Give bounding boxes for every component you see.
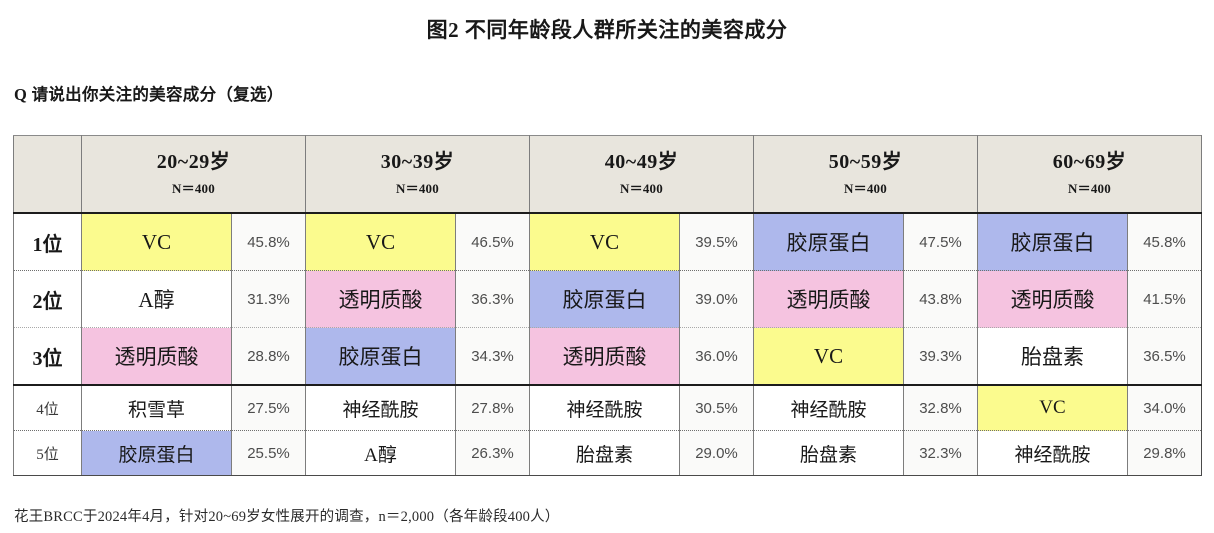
ingredient-name-cell: 胶原蛋白: [530, 271, 680, 328]
ingredient-name-cell: VC: [306, 213, 456, 271]
ingredient-percent-cell: 27.5%: [232, 385, 306, 431]
table-row: 2位A醇31.3%透明质酸36.3%胶原蛋白39.0%透明质酸43.8%透明质酸…: [14, 271, 1202, 328]
ingredient-percent-cell: 29.8%: [1128, 431, 1202, 476]
ingredient-name-cell: A醇: [306, 431, 456, 476]
ingredient-percent-cell: 27.8%: [456, 385, 530, 431]
age-group-header-4: 50~59岁N＝400: [754, 136, 978, 214]
ingredient-name-cell: VC: [754, 328, 904, 386]
ingredient-name-cell: VC: [530, 213, 680, 271]
table-row: 3位透明质酸28.8%胶原蛋白34.3%透明质酸36.0%VC39.3%胎盘素3…: [14, 328, 1202, 386]
ingredient-percent-cell: 45.8%: [232, 213, 306, 271]
age-group-header-2: 30~39岁N＝400: [306, 136, 530, 214]
age-group-sample-size: N＝400: [530, 178, 753, 197]
rank-column-header: [14, 136, 82, 214]
age-group-label: 40~49岁: [530, 151, 753, 174]
ingredient-name-cell: 神经酰胺: [754, 385, 904, 431]
page-title: 图2 不同年龄段人群所关注的美容成分: [0, 14, 1214, 44]
ingredient-name-cell: 透明质酸: [754, 271, 904, 328]
ingredient-percent-cell: 29.0%: [680, 431, 754, 476]
ingredient-name-cell: 胎盘素: [530, 431, 680, 476]
ingredient-name-cell: 透明质酸: [306, 271, 456, 328]
rank-label: 1位: [14, 213, 82, 271]
ingredient-percent-cell: 39.3%: [904, 328, 978, 386]
question-text: 请说出你关注的美容成分（复选）: [32, 85, 284, 104]
source-footnote: 花王BRCC于2024年4月，针对20~69岁女性展开的调查，n＝2,000（各…: [14, 505, 560, 526]
age-group-header-5: 60~69岁N＝400: [978, 136, 1202, 214]
ingredient-name-cell: 透明质酸: [82, 328, 232, 386]
ingredient-percent-cell: 34.3%: [456, 328, 530, 386]
rank-label: 2位: [14, 271, 82, 328]
age-group-sample-size: N＝400: [978, 178, 1201, 197]
ingredient-percent-cell: 25.5%: [232, 431, 306, 476]
ingredient-name-cell: 胎盘素: [978, 328, 1128, 386]
ingredient-name-cell: 胎盘素: [754, 431, 904, 476]
table-row: 5位胶原蛋白25.5%A醇26.3%胎盘素29.0%胎盘素32.3%神经酰胺29…: [14, 431, 1202, 476]
ingredient-percent-cell: 36.0%: [680, 328, 754, 386]
rank-label: 4位: [14, 385, 82, 431]
age-group-label: 60~69岁: [978, 151, 1201, 174]
table-row: 1位VC45.8%VC46.5%VC39.5%胶原蛋白47.5%胶原蛋白45.8…: [14, 213, 1202, 271]
ingredient-percent-cell: 28.8%: [232, 328, 306, 386]
age-group-label: 30~39岁: [306, 151, 529, 174]
ingredient-name-cell: VC: [82, 213, 232, 271]
table-row: 4位积雪草27.5%神经酰胺27.8%神经酰胺30.5%神经酰胺32.8%VC3…: [14, 385, 1202, 431]
ingredient-percent-cell: 32.8%: [904, 385, 978, 431]
ingredient-name-cell: 神经酰胺: [306, 385, 456, 431]
ingredient-percent-cell: 41.5%: [1128, 271, 1202, 328]
ingredient-percent-cell: 47.5%: [904, 213, 978, 271]
ingredient-percent-cell: 36.3%: [456, 271, 530, 328]
ingredient-percent-cell: 32.3%: [904, 431, 978, 476]
ranking-table: 20~29岁N＝40030~39岁N＝40040~49岁N＝40050~59岁N…: [13, 135, 1202, 476]
ingredient-name-cell: 胶原蛋白: [978, 213, 1128, 271]
ingredient-name-cell: 透明质酸: [530, 328, 680, 386]
ingredient-name-cell: A醇: [82, 271, 232, 328]
table-header-row: 20~29岁N＝40030~39岁N＝40040~49岁N＝40050~59岁N…: [14, 136, 1202, 214]
ingredient-percent-cell: 39.5%: [680, 213, 754, 271]
ingredient-name-cell: 胶原蛋白: [754, 213, 904, 271]
age-group-sample-size: N＝400: [82, 178, 305, 197]
ingredient-name-cell: 透明质酸: [978, 271, 1128, 328]
ingredient-name-cell: 胶原蛋白: [306, 328, 456, 386]
age-group-label: 50~59岁: [754, 151, 977, 174]
ingredient-name-cell: 神经酰胺: [530, 385, 680, 431]
ingredient-percent-cell: 39.0%: [680, 271, 754, 328]
ingredient-percent-cell: 43.8%: [904, 271, 978, 328]
question-prefix: Q: [14, 85, 27, 104]
ingredient-name-cell: VC: [978, 385, 1128, 431]
ingredient-name-cell: 胶原蛋白: [82, 431, 232, 476]
age-group-sample-size: N＝400: [754, 178, 977, 197]
age-group-header-1: 20~29岁N＝400: [82, 136, 306, 214]
ingredient-percent-cell: 36.5%: [1128, 328, 1202, 386]
ingredient-percent-cell: 45.8%: [1128, 213, 1202, 271]
age-group-label: 20~29岁: [82, 151, 305, 174]
ingredient-percent-cell: 31.3%: [232, 271, 306, 328]
rank-label: 3位: [14, 328, 82, 386]
age-group-header-3: 40~49岁N＝400: [530, 136, 754, 214]
ingredient-name-cell: 神经酰胺: [978, 431, 1128, 476]
ingredient-name-cell: 积雪草: [82, 385, 232, 431]
age-group-sample-size: N＝400: [306, 178, 529, 197]
question-line: Q 请说出你关注的美容成分（复选）: [14, 81, 284, 105]
ingredient-percent-cell: 30.5%: [680, 385, 754, 431]
ingredient-percent-cell: 34.0%: [1128, 385, 1202, 431]
ingredient-percent-cell: 46.5%: [456, 213, 530, 271]
figure-page: 图2 不同年龄段人群所关注的美容成分 Q 请说出你关注的美容成分（复选） 20~…: [0, 0, 1214, 533]
rank-label: 5位: [14, 431, 82, 476]
ingredient-percent-cell: 26.3%: [456, 431, 530, 476]
